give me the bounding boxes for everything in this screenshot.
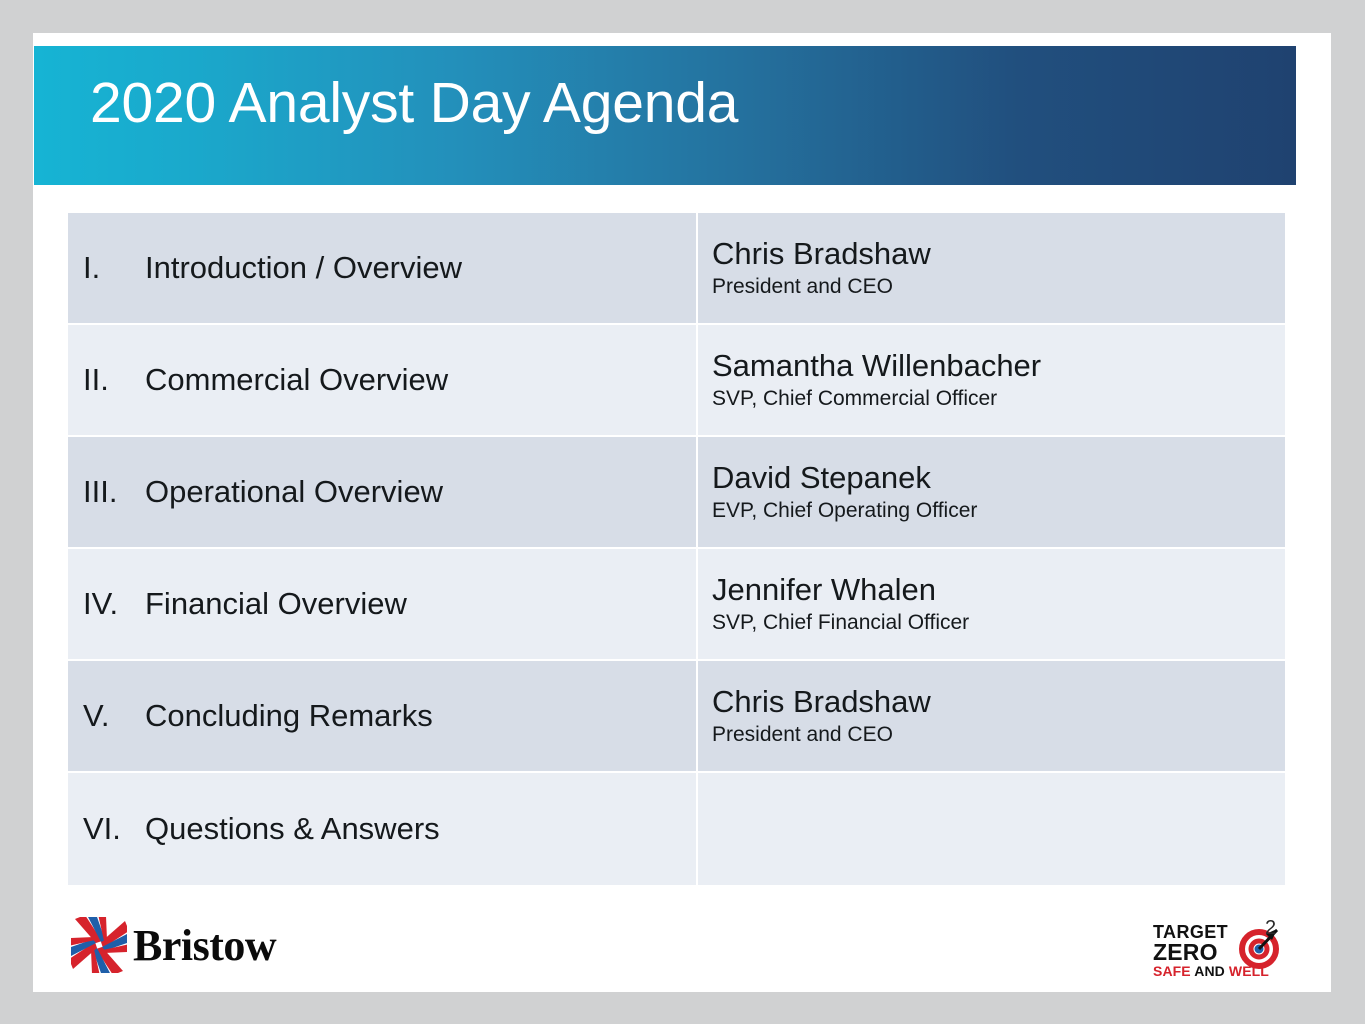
presenter-role: SVP, Chief Financial Officer [712,610,1285,635]
presenter-name: Chris Bradshaw [712,237,1285,272]
target-zero-text: TARGET ZERO SAFE AND WELL [1153,923,1245,979]
presenter-name: Samantha Willenbacher [712,349,1285,384]
target-zero-line-zero: ZERO [1153,941,1245,963]
table-row: V. Concluding Remarks Chris Bradshaw Pre… [68,661,1285,773]
agenda-item-cell: I. Introduction / Overview [68,213,698,325]
slide-title-banner: 2020 Analyst Day Agenda [34,46,1296,185]
presenter-name: Jennifer Whalen [712,573,1285,608]
target-zero-logo: TARGET ZERO SAFE AND WELL [1153,923,1283,975]
agenda-table: I. Introduction / Overview Chris Bradsha… [68,213,1285,885]
agenda-numeral: III. [83,474,145,510]
agenda-item-cell: VI. Questions & Answers [68,773,698,885]
agenda-numeral: IV. [83,586,145,622]
agenda-item-label: Introduction / Overview [145,250,462,286]
agenda-item-label: Operational Overview [145,474,443,510]
tagline-safe: SAFE [1153,963,1191,979]
presenter-role: SVP, Chief Commercial Officer [712,386,1285,411]
agenda-numeral: II. [83,362,145,398]
agenda-presenter-cell: Chris Bradshaw President and CEO [698,661,1285,773]
bristow-logo: Bristow [71,917,296,975]
presenter-role: EVP, Chief Operating Officer [712,498,1285,523]
agenda-presenter-cell [698,773,1285,885]
agenda-numeral: I. [83,250,145,286]
agenda-presenter-cell: David Stepanek EVP, Chief Operating Offi… [698,437,1285,549]
tagline-and: AND [1194,963,1225,979]
table-row: II. Commercial Overview Samantha Willenb… [68,325,1285,437]
presenter-role: President and CEO [712,722,1285,747]
target-dart-icon [1239,925,1283,969]
page-number: 2 [1265,917,1276,940]
agenda-item-label: Concluding Remarks [145,698,433,734]
agenda-numeral: VI. [83,811,145,847]
agenda-presenter-cell: Samantha Willenbacher SVP, Chief Commerc… [698,325,1285,437]
table-row: VI. Questions & Answers [68,773,1285,885]
page-title: 2020 Analyst Day Agenda [90,75,738,132]
agenda-item-cell: II. Commercial Overview [68,325,698,437]
agenda-item-cell: IV. Financial Overview [68,549,698,661]
presentation-slide: 2020 Analyst Day Agenda I. Introduction … [33,33,1331,992]
presenter-name: Chris Bradshaw [712,685,1285,720]
table-row: IV. Financial Overview Jennifer Whalen S… [68,549,1285,661]
screenshot-canvas: 2020 Analyst Day Agenda I. Introduction … [0,0,1365,1024]
bristow-pinwheel-icon [71,917,127,973]
bristow-wordmark: Bristow [133,922,276,970]
presenter-role: President and CEO [712,274,1285,299]
agenda-item-label: Financial Overview [145,586,407,622]
agenda-item-label: Commercial Overview [145,362,448,398]
target-zero-tagline: SAFE AND WELL [1153,963,1245,979]
table-row: I. Introduction / Overview Chris Bradsha… [68,213,1285,325]
agenda-item-cell: V. Concluding Remarks [68,661,698,773]
agenda-item-label: Questions & Answers [145,811,440,847]
agenda-numeral: V. [83,698,145,734]
presenter-name: David Stepanek [712,461,1285,496]
table-row: III. Operational Overview David Stepanek… [68,437,1285,549]
agenda-presenter-cell: Chris Bradshaw President and CEO [698,213,1285,325]
agenda-presenter-cell: Jennifer Whalen SVP, Chief Financial Off… [698,549,1285,661]
agenda-item-cell: III. Operational Overview [68,437,698,549]
